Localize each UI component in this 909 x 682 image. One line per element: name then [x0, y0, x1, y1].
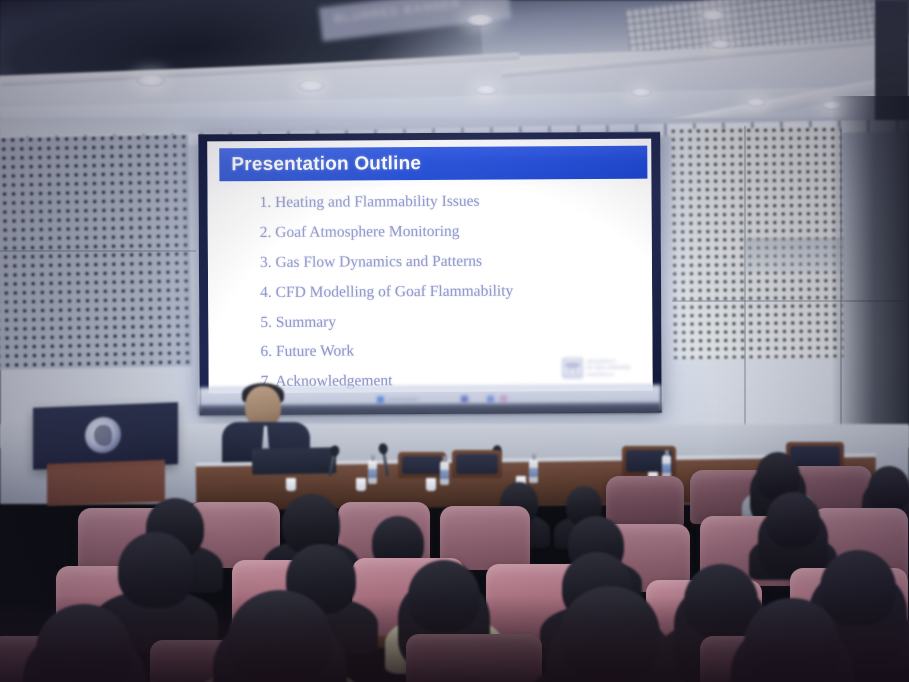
media-icon[interactable] [487, 396, 494, 403]
slide-surface[interactable]: Presentation Outline 1. Heating and Flam… [207, 139, 653, 394]
tray-extra-icon[interactable] [500, 396, 507, 403]
taskbar-app-label: presentation [388, 397, 419, 403]
crest-icon [563, 358, 583, 378]
audience-member [560, 586, 660, 682]
wall-seam [0, 250, 196, 252]
wall-shadow [831, 96, 909, 426]
audience-member [408, 560, 480, 632]
slide-title-bar: Presentation Outline [219, 146, 647, 182]
taskbar-apps[interactable]: presentation [377, 396, 419, 403]
projection-screen[interactable]: Presentation Outline 1. Heating and Flam… [198, 132, 662, 416]
taskbar-tray[interactable] [461, 396, 507, 403]
outline-item: 4. CFD Modelling of Goaf Flammability [260, 282, 652, 300]
ceiling-downlight [297, 80, 325, 92]
ceiling-downlight [465, 14, 495, 27]
ceiling: BLURRED BANNER [0, 0, 909, 132]
browser-icon[interactable] [461, 396, 468, 403]
outline-item: 2. Goaf Atmosphere Monitoring [260, 223, 652, 241]
chart-icon[interactable] [474, 396, 481, 403]
explorer-icon[interactable] [377, 396, 384, 403]
slide-title: Presentation Outline [219, 153, 421, 176]
logo-line-3: AUSTRALIA [587, 372, 631, 378]
ceiling-downlight [630, 88, 652, 97]
outline-item: 1. Heating and Flammability Issues [260, 193, 652, 211]
ceiling-downlight [136, 74, 166, 87]
seat [406, 634, 542, 682]
lecture-hall-photo: BLURRED BANNER Presentation Outline 1. H… [0, 0, 909, 682]
ceiling-downlight [700, 10, 726, 21]
audience-seating [0, 440, 909, 682]
audience-member [36, 604, 132, 682]
audience-member [868, 466, 909, 512]
audience-member [766, 492, 820, 548]
outline-item: 3. Gas Flow Dynamics and Patterns [260, 252, 652, 270]
wall-block [744, 238, 844, 272]
ceiling-downlight [474, 85, 498, 95]
ceiling-downlight [745, 98, 767, 107]
audience-member [118, 532, 194, 608]
university-logo: UNIVERSITY OF WOLLONGONG AUSTRALIA [563, 355, 641, 381]
ceiling-downlight [709, 40, 731, 49]
acoustic-panel-left [0, 134, 192, 369]
logo-line-2: OF WOLLONGONG [587, 365, 631, 371]
logo-line-1: UNIVERSITY [587, 359, 631, 365]
outline-item: 5. Summary [260, 312, 652, 330]
university-logo-text: UNIVERSITY OF WOLLONGONG AUSTRALIA [587, 359, 631, 378]
wall-seam [744, 126, 746, 426]
audience-member [744, 598, 840, 682]
audience-member [228, 590, 332, 682]
